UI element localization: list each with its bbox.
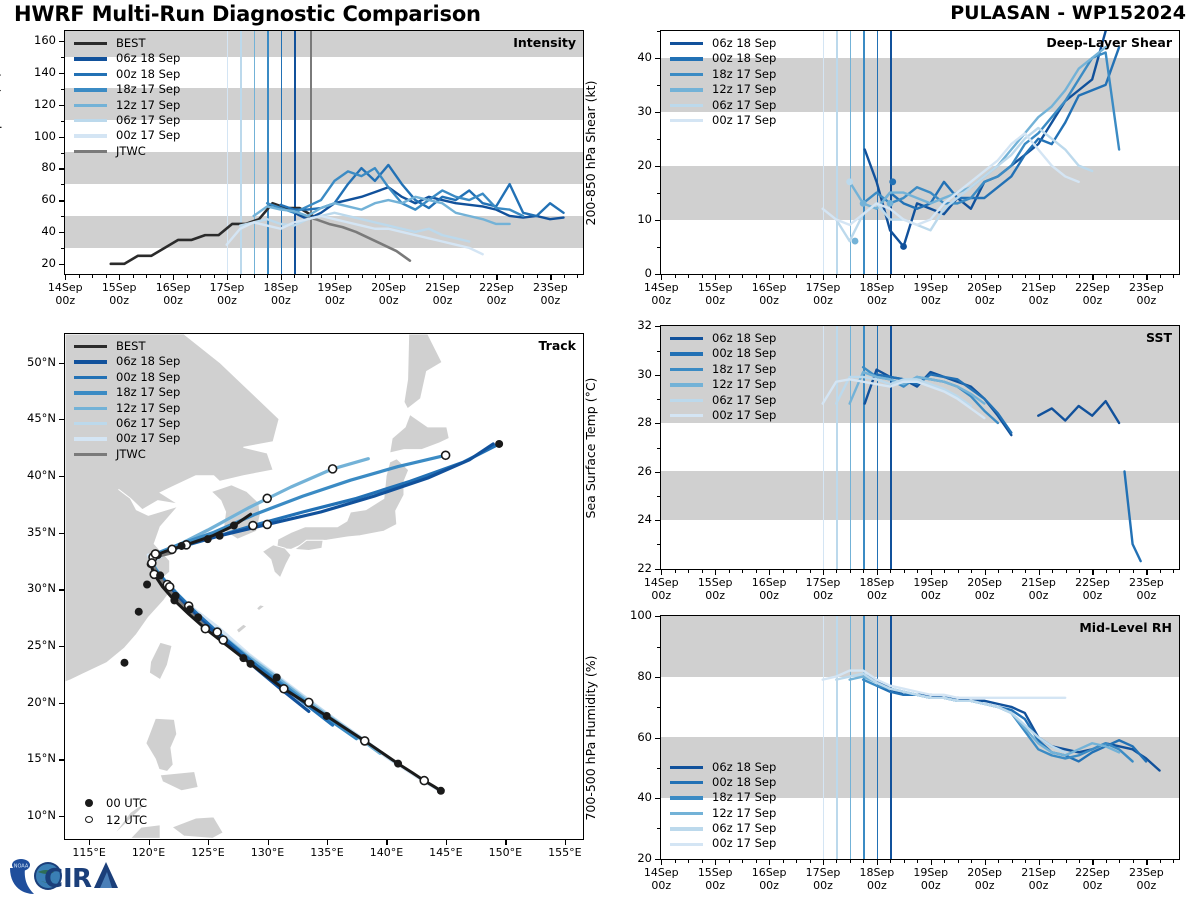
x-tick-label: 14Sep00z	[626, 282, 696, 308]
x-minor-tick	[1160, 275, 1161, 278]
track-plot-area: Track	[64, 333, 584, 840]
svg-text:NOAA: NOAA	[14, 864, 29, 870]
x-tick-mark	[1092, 860, 1093, 865]
x-minor-tick	[998, 275, 999, 278]
x-tick-hour: 00z	[921, 589, 941, 602]
legend-entry-label: 00z 17 Sep	[712, 410, 776, 422]
legend-color-swatch	[670, 383, 703, 386]
storm-title: PULASAN - WP152024	[950, 2, 1186, 24]
x-minor-tick	[1160, 570, 1161, 573]
track-time-marker	[420, 777, 428, 785]
x-tick-label: 23Sep00z	[1111, 867, 1181, 893]
x-minor-tick	[742, 275, 743, 278]
x-minor-tick	[160, 275, 161, 278]
x-minor-tick	[1079, 570, 1080, 573]
x-minor-tick	[958, 275, 959, 278]
track-time-marker	[156, 571, 164, 579]
x-minor-tick	[577, 275, 578, 278]
x-tick-label: 23Sep00z	[1111, 577, 1181, 603]
x-tick-date: 16Sep	[752, 866, 787, 879]
x-minor-tick	[756, 275, 757, 278]
x-tick-hour: 00z	[705, 589, 725, 602]
x-tick-mark	[715, 275, 716, 280]
x-tick-mark	[877, 275, 878, 280]
legend-color-swatch	[74, 437, 107, 440]
series-line	[227, 216, 483, 254]
x-tick-hour: 00z	[1136, 294, 1156, 307]
x-tick-label: 20Sep00z	[354, 282, 424, 308]
y-minor-tick	[657, 768, 660, 769]
legend-entry-label: 06z 17 Sep	[712, 395, 776, 407]
rh-series-layer	[661, 616, 1178, 858]
x-tick-label: 17Sep00z	[788, 867, 858, 893]
series-line	[877, 47, 1120, 209]
y-tick-label: 20	[604, 851, 652, 865]
x-minor-tick	[1173, 275, 1174, 278]
series-line	[865, 31, 1106, 246]
x-tick-date: 23Sep	[1129, 576, 1164, 589]
x-minor-tick	[917, 570, 918, 573]
x-tick-hour: 00z	[540, 294, 560, 307]
legend-entry-label: 12z 17 Sep	[116, 100, 180, 112]
lon-tick-label: 155°E	[532, 847, 598, 860]
legend-entry-label: 00z 18 Sep	[712, 348, 776, 360]
x-tick-mark	[335, 275, 336, 280]
legend-color-swatch	[670, 399, 703, 402]
y-tick-mark	[655, 274, 660, 275]
x-tick-label: 20Sep00z	[950, 282, 1020, 308]
track-panel-title: Track	[539, 338, 576, 353]
lon-tick-mark	[327, 840, 328, 845]
x-minor-tick	[523, 275, 524, 278]
y-minor-tick	[657, 544, 660, 545]
legend-color-swatch	[670, 57, 703, 60]
init-time-line	[836, 31, 838, 274]
x-minor-tick	[294, 275, 295, 278]
y-tick-label: 20	[8, 256, 56, 270]
legend-color-swatch	[74, 119, 107, 122]
legend-entry: 18z 17 Sep	[670, 67, 776, 82]
x-minor-tick	[348, 275, 349, 278]
x-minor-tick	[729, 275, 730, 278]
track-00z-18sep	[153, 444, 499, 725]
y-minor-tick	[657, 647, 660, 648]
x-minor-tick	[810, 275, 811, 278]
legend-color-swatch	[74, 73, 107, 76]
x-tick-date: 17Sep	[806, 281, 841, 294]
legend-color-swatch	[74, 391, 107, 394]
x-minor-tick	[810, 570, 811, 573]
y-tick-mark	[655, 798, 660, 799]
x-minor-tick	[688, 275, 689, 278]
rh-y-axis-label: 700-500 hPa Humidity (%)	[583, 615, 598, 860]
x-tick-date: 19Sep	[913, 576, 948, 589]
y-tick-mark	[59, 264, 64, 265]
series-line	[850, 47, 1106, 209]
x-minor-tick	[729, 860, 730, 863]
track-jtwc	[152, 553, 208, 629]
x-tick-mark	[769, 275, 770, 280]
track-time-marker	[329, 465, 337, 473]
legend-entry-label: 06z 17 Sep	[712, 100, 776, 112]
shaded-band	[661, 326, 1179, 374]
x-tick-mark	[1092, 275, 1093, 280]
x-tick-hour: 00z	[487, 294, 507, 307]
x-tick-date: 20Sep	[967, 866, 1002, 879]
track-time-marker	[247, 660, 255, 668]
x-tick-date: 18Sep	[860, 281, 895, 294]
lat-tick-mark	[59, 646, 64, 647]
track-time-marker	[230, 522, 238, 530]
legend-entry: 18z 17 Sep	[670, 790, 776, 805]
legend-entry-label: 00z 17 Sep	[116, 130, 180, 142]
y-tick-mark	[655, 677, 660, 678]
x-tick-hour: 00z	[867, 879, 887, 892]
legend-entry-label: JTWC	[116, 449, 146, 461]
track-time-marker	[204, 535, 212, 543]
x-tick-label: 15Sep00z	[680, 577, 750, 603]
series-marker	[852, 238, 859, 245]
x-tick-label: 21Sep00z	[408, 282, 478, 308]
intensity-panel-title: Intensity	[513, 35, 576, 50]
legend-entry: 00z 17 Sep	[670, 408, 776, 423]
y-minor-tick	[61, 248, 64, 249]
x-minor-tick	[1079, 275, 1080, 278]
series-line	[877, 686, 1146, 762]
lat-tick-label: 25°N	[8, 638, 56, 652]
y-tick-mark	[59, 137, 64, 138]
landmass-honshu	[277, 459, 409, 550]
series-line	[836, 128, 1092, 241]
shaded-band	[661, 374, 1179, 422]
y-tick-mark	[655, 166, 660, 167]
legend-entry-label: 12z 17 Sep	[712, 84, 776, 96]
track-time-marker	[239, 654, 247, 662]
panel-rh: Mid-Level RH20406080100700-500 hPa Humid…	[0, 0, 1200, 900]
legend-color-swatch	[670, 42, 703, 45]
x-minor-tick	[470, 275, 471, 278]
series-line	[836, 674, 1065, 753]
x-minor-tick	[1119, 860, 1120, 863]
y-tick-label: 80	[8, 160, 56, 174]
x-tick-mark	[1146, 275, 1147, 280]
x-minor-tick	[971, 570, 972, 573]
shaded-band	[65, 152, 583, 184]
x-tick-date: 22Sep	[1075, 281, 1110, 294]
track-time-marker	[201, 625, 209, 633]
x-tick-label: 22Sep00z	[1057, 867, 1127, 893]
lat-tick-label: 35°N	[8, 525, 56, 539]
marker-legend-label: 12 UTC	[106, 813, 147, 827]
track-00z-17sep	[148, 555, 439, 791]
marker-legend-entry: 12 UTC	[74, 811, 147, 828]
x-tick-mark	[661, 570, 662, 575]
lon-tick-label: 145°E	[413, 847, 479, 860]
legend-entry-label: 00z 17 Sep	[712, 115, 776, 127]
legend-entry: 06z 18 Sep	[670, 36, 776, 51]
jtwc-current-line	[310, 31, 312, 274]
lat-tick-mark	[59, 419, 64, 420]
x-tick-date: 15Sep	[698, 281, 733, 294]
x-minor-tick	[688, 570, 689, 573]
x-tick-hour: 00z	[1083, 879, 1103, 892]
x-tick-hour: 00z	[651, 879, 671, 892]
track-18z-17sep	[151, 455, 446, 738]
x-tick-mark	[119, 275, 120, 280]
series-line	[863, 53, 1119, 204]
x-minor-tick	[92, 275, 93, 278]
x-tick-date: 21Sep	[1021, 866, 1056, 879]
legend-entry-label: 18z 17 Sep	[712, 364, 776, 376]
x-tick-hour: 00z	[975, 294, 995, 307]
series-line	[865, 675, 1160, 770]
x-tick-label: 14Sep00z	[30, 282, 100, 308]
legend-entry: 06z 17 Sep	[74, 416, 180, 431]
y-minor-tick	[657, 193, 660, 194]
x-tick-date: 21Sep	[1021, 576, 1056, 589]
init-time-line	[267, 31, 269, 274]
init-time-line	[823, 326, 825, 569]
x-minor-tick	[362, 275, 363, 278]
x-minor-tick	[810, 860, 811, 863]
x-minor-tick	[1025, 860, 1026, 863]
track-time-marker	[154, 551, 162, 559]
x-minor-tick	[998, 860, 999, 863]
landmass-korea	[211, 485, 260, 539]
y-tick-label: 80	[604, 669, 652, 683]
x-tick-hour: 00z	[975, 589, 995, 602]
x-minor-tick	[729, 570, 730, 573]
x-tick-label: 22Sep00z	[1057, 282, 1127, 308]
legend-color-swatch	[670, 368, 703, 371]
legend-entry: JTWC	[74, 447, 180, 462]
x-minor-tick	[254, 275, 255, 278]
series-line	[254, 197, 510, 224]
y-tick-mark	[655, 569, 660, 570]
y-minor-tick	[657, 139, 660, 140]
track-time-marker	[442, 451, 450, 459]
x-tick-date: 19Sep	[913, 281, 948, 294]
track-time-marker	[495, 440, 503, 448]
x-tick-label: 15Sep00z	[680, 867, 750, 893]
x-tick-hour: 00z	[705, 879, 725, 892]
lat-tick-label: 45°N	[8, 411, 56, 425]
x-minor-tick	[688, 860, 689, 863]
x-minor-tick	[944, 860, 945, 863]
x-tick-hour: 00z	[651, 589, 671, 602]
track-time-marker	[172, 592, 180, 600]
lon-tick-label: 120°E	[116, 847, 182, 860]
shear-plot-area: Deep-Layer Shear	[660, 30, 1180, 275]
x-tick-label: 18Sep00z	[842, 577, 912, 603]
x-tick-date: 14Sep	[644, 281, 679, 294]
x-minor-tick	[850, 570, 851, 573]
legend-entry: 12z 17 Sep	[670, 82, 776, 97]
x-tick-date: 16Sep	[752, 281, 787, 294]
x-minor-tick	[564, 275, 565, 278]
lat-tick-mark	[59, 816, 64, 817]
legend-color-swatch	[670, 73, 703, 76]
x-minor-tick	[836, 860, 837, 863]
x-tick-mark	[496, 275, 497, 280]
track-06z-18sep	[151, 444, 494, 712]
y-minor-tick	[61, 153, 64, 154]
x-tick-label: 23Sep00z	[1111, 282, 1181, 308]
x-tick-hour: 00z	[1029, 879, 1049, 892]
y-tick-label: 22	[604, 561, 652, 575]
legend-entry: 06z 17 Sep	[670, 821, 776, 836]
x-tick-date: 21Sep	[425, 281, 460, 294]
legend-color-swatch	[670, 352, 703, 355]
rh-panel-title: Mid-Level RH	[1079, 620, 1172, 635]
x-minor-tick	[200, 275, 201, 278]
y-minor-tick	[657, 31, 660, 32]
x-tick-mark	[985, 860, 986, 865]
x-tick-mark	[985, 570, 986, 575]
x-tick-mark	[281, 275, 282, 280]
x-minor-tick	[429, 275, 430, 278]
x-minor-tick	[510, 275, 511, 278]
lat-tick-label: 40°N	[8, 468, 56, 482]
y-tick-label: 40	[604, 790, 652, 804]
lat-tick-label: 30°N	[8, 581, 56, 595]
x-tick-date: 20Sep	[371, 281, 406, 294]
track-time-marker	[163, 580, 171, 588]
lon-tick-mark	[505, 840, 506, 845]
legend-entry-label: 06z 17 Sep	[712, 823, 776, 835]
x-minor-tick	[702, 860, 703, 863]
lat-tick-mark	[59, 589, 64, 590]
x-tick-hour: 00z	[109, 294, 129, 307]
x-minor-tick	[1066, 570, 1067, 573]
init-time-line	[890, 616, 892, 859]
x-tick-mark	[65, 275, 66, 280]
init-time-line	[877, 616, 879, 859]
legend-entry: BEST	[74, 36, 180, 51]
legend-color-swatch	[74, 422, 107, 425]
x-minor-tick	[1052, 860, 1053, 863]
legend-color-swatch	[74, 88, 107, 91]
y-tick-mark	[59, 200, 64, 201]
x-tick-mark	[1092, 570, 1093, 575]
y-minor-tick	[61, 89, 64, 90]
series-line	[850, 372, 985, 404]
x-minor-tick	[863, 570, 864, 573]
legend-entry: 18z 17 Sep	[74, 82, 180, 97]
init-time-line	[850, 326, 852, 569]
x-tick-mark	[389, 275, 390, 280]
y-tick-mark	[655, 472, 660, 473]
x-minor-tick	[863, 275, 864, 278]
series-line	[240, 213, 469, 242]
track-time-marker	[305, 698, 313, 706]
x-minor-tick	[79, 275, 80, 278]
series-line	[1038, 401, 1119, 423]
track-time-marker	[263, 520, 271, 528]
x-tick-label: 19Sep00z	[896, 282, 966, 308]
lon-tick-label: 150°E	[472, 847, 538, 860]
svg-text:C: C	[44, 864, 63, 894]
x-minor-tick	[1012, 275, 1013, 278]
y-minor-tick	[657, 496, 660, 497]
shaded-band	[661, 737, 1179, 798]
x-minor-tick	[958, 860, 959, 863]
x-tick-hour: 00z	[651, 294, 671, 307]
x-minor-tick	[958, 570, 959, 573]
legend-color-swatch	[74, 360, 107, 363]
y-tick-label: 40	[604, 50, 652, 64]
landmass-philippines-mid	[160, 772, 198, 791]
series-line	[836, 377, 971, 406]
legend-entry: 12z 17 Sep	[74, 401, 180, 416]
y-tick-mark	[655, 112, 660, 113]
x-tick-hour: 00z	[1083, 589, 1103, 602]
x-tick-mark	[877, 570, 878, 575]
legend-entry: 12z 17 Sep	[74, 98, 180, 113]
x-tick-hour: 00z	[921, 879, 941, 892]
y-minor-tick	[61, 216, 64, 217]
x-minor-tick	[106, 275, 107, 278]
x-tick-label: 16Sep00z	[138, 282, 208, 308]
x-tick-label: 20Sep00z	[950, 867, 1020, 893]
x-minor-tick	[756, 860, 757, 863]
legend-color-swatch	[74, 104, 107, 107]
y-minor-tick	[61, 57, 64, 58]
y-tick-mark	[59, 105, 64, 106]
legend-entry: 18z 17 Sep	[670, 362, 776, 377]
x-minor-tick	[1119, 275, 1120, 278]
x-minor-tick	[783, 860, 784, 863]
y-tick-label: 140	[8, 65, 56, 79]
lat-tick-mark	[59, 363, 64, 364]
x-tick-date: 18Sep	[860, 576, 895, 589]
track-time-marker	[166, 583, 174, 591]
legend-entry-label: 06z 18 Sep	[712, 38, 776, 50]
track-marker-legend: 00 UTC12 UTC	[74, 794, 147, 828]
landmass-palawan	[113, 801, 148, 836]
x-tick-label: 14Sep00z	[626, 577, 696, 603]
shaded-band	[661, 471, 1179, 519]
legend-entry: 00z 18 Sep	[670, 775, 776, 790]
lon-tick-mark	[89, 840, 90, 845]
x-tick-date: 18Sep	[860, 866, 895, 879]
x-minor-tick	[1133, 275, 1134, 278]
init-time-line	[863, 616, 865, 859]
x-tick-date: 14Sep	[644, 866, 679, 879]
landmass-hokkaido	[390, 415, 450, 454]
x-tick-date: 22Sep	[1075, 576, 1110, 589]
intensity-y-axis-label: 10m Max Wind Speed (kt)	[0, 30, 2, 275]
x-tick-label: 18Sep00z	[246, 282, 316, 308]
series-marker	[846, 178, 853, 185]
x-minor-tick	[917, 860, 918, 863]
y-tick-label: 100	[604, 608, 652, 622]
x-minor-tick	[836, 570, 837, 573]
track-time-marker	[263, 494, 271, 502]
lon-tick-mark	[446, 840, 447, 845]
rh-legend: 06z 18 Sep00z 18 Sep18z 17 Sep12z 17 Sep…	[670, 760, 776, 852]
x-minor-tick	[675, 275, 676, 278]
landmass-okinawa	[236, 624, 247, 633]
track-06z-17sep	[151, 498, 398, 764]
legend-color-swatch	[670, 766, 703, 769]
shear-legend: 06z 18 Sep00z 18 Sep18z 17 Sep12z 17 Sep…	[670, 36, 776, 128]
x-minor-tick	[402, 275, 403, 278]
legend-entry: 00z 18 Sep	[74, 67, 180, 82]
legend-entry: 12z 17 Sep	[670, 377, 776, 392]
x-tick-mark	[985, 275, 986, 280]
shaded-band	[661, 616, 1179, 677]
